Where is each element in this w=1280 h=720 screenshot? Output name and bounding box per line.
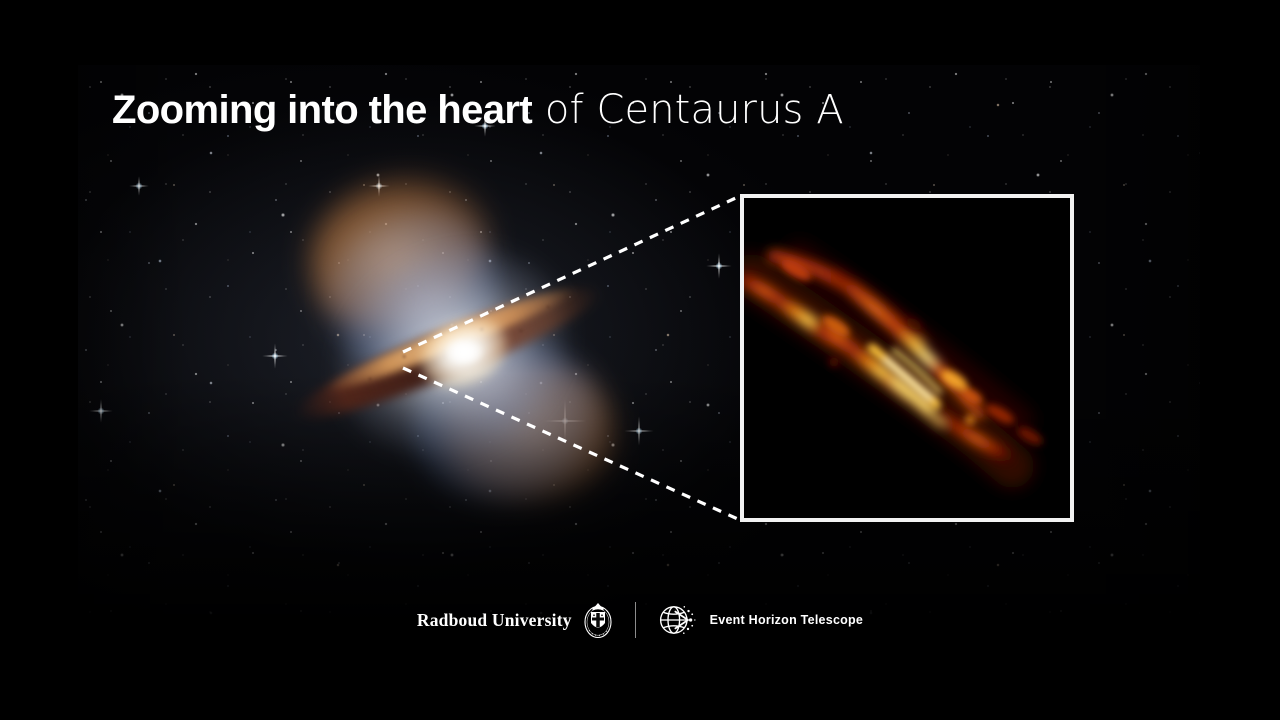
radboud-label: Radboud University [417, 610, 572, 631]
title-light: of Centaurus A [532, 87, 844, 133]
eht-label: Event Horizon Telescope [710, 613, 863, 627]
event-horizon-telescope-logo: Event Horizon Telescope [658, 601, 863, 639]
footer-divider [635, 602, 636, 638]
eht-globe-icon [658, 601, 698, 639]
radboud-crest-icon [583, 601, 613, 639]
bright-star [718, 265, 720, 267]
bright-star [100, 410, 102, 412]
slide-canvas: Zooming into the heart of Centaurus A Ra… [0, 0, 1280, 720]
footer-logos: Radboud University [0, 596, 1280, 644]
radboud-university-logo: Radboud University [417, 601, 613, 639]
bright-star [138, 185, 140, 187]
galaxy-nucleus [444, 338, 484, 366]
jet-canvas [744, 198, 1070, 518]
inset-image-eht-jet [740, 194, 1074, 522]
page-title: Zooming into the heart of Centaurus A [112, 89, 844, 132]
title-bold: Zooming into the heart [112, 88, 532, 132]
galaxy-centaurus-a [228, 180, 648, 510]
